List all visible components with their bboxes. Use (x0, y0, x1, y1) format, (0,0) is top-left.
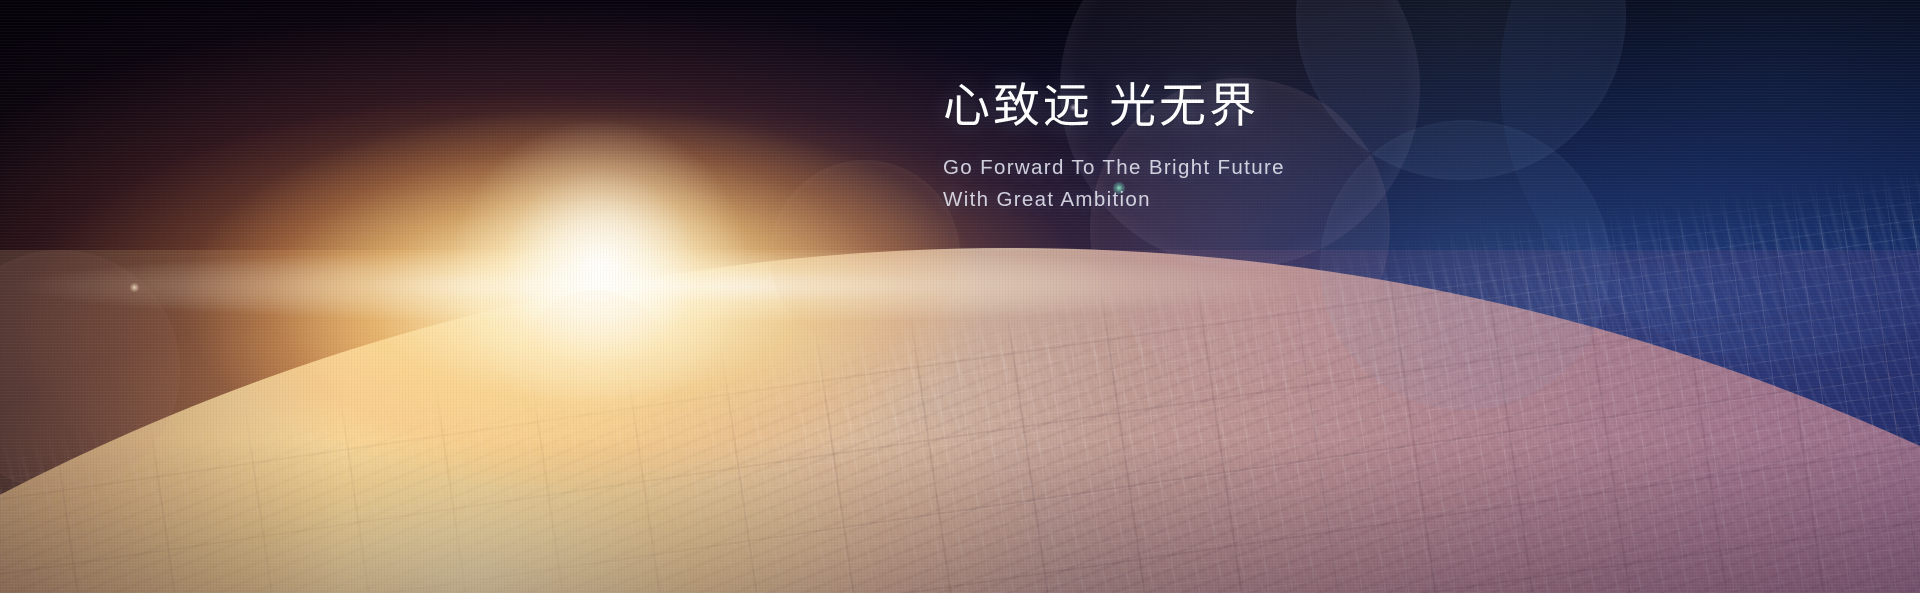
hero-banner: 心致远 光无界 Go Forward To The Bright Future … (0, 0, 1920, 593)
film-grain-overlay (0, 0, 1920, 593)
